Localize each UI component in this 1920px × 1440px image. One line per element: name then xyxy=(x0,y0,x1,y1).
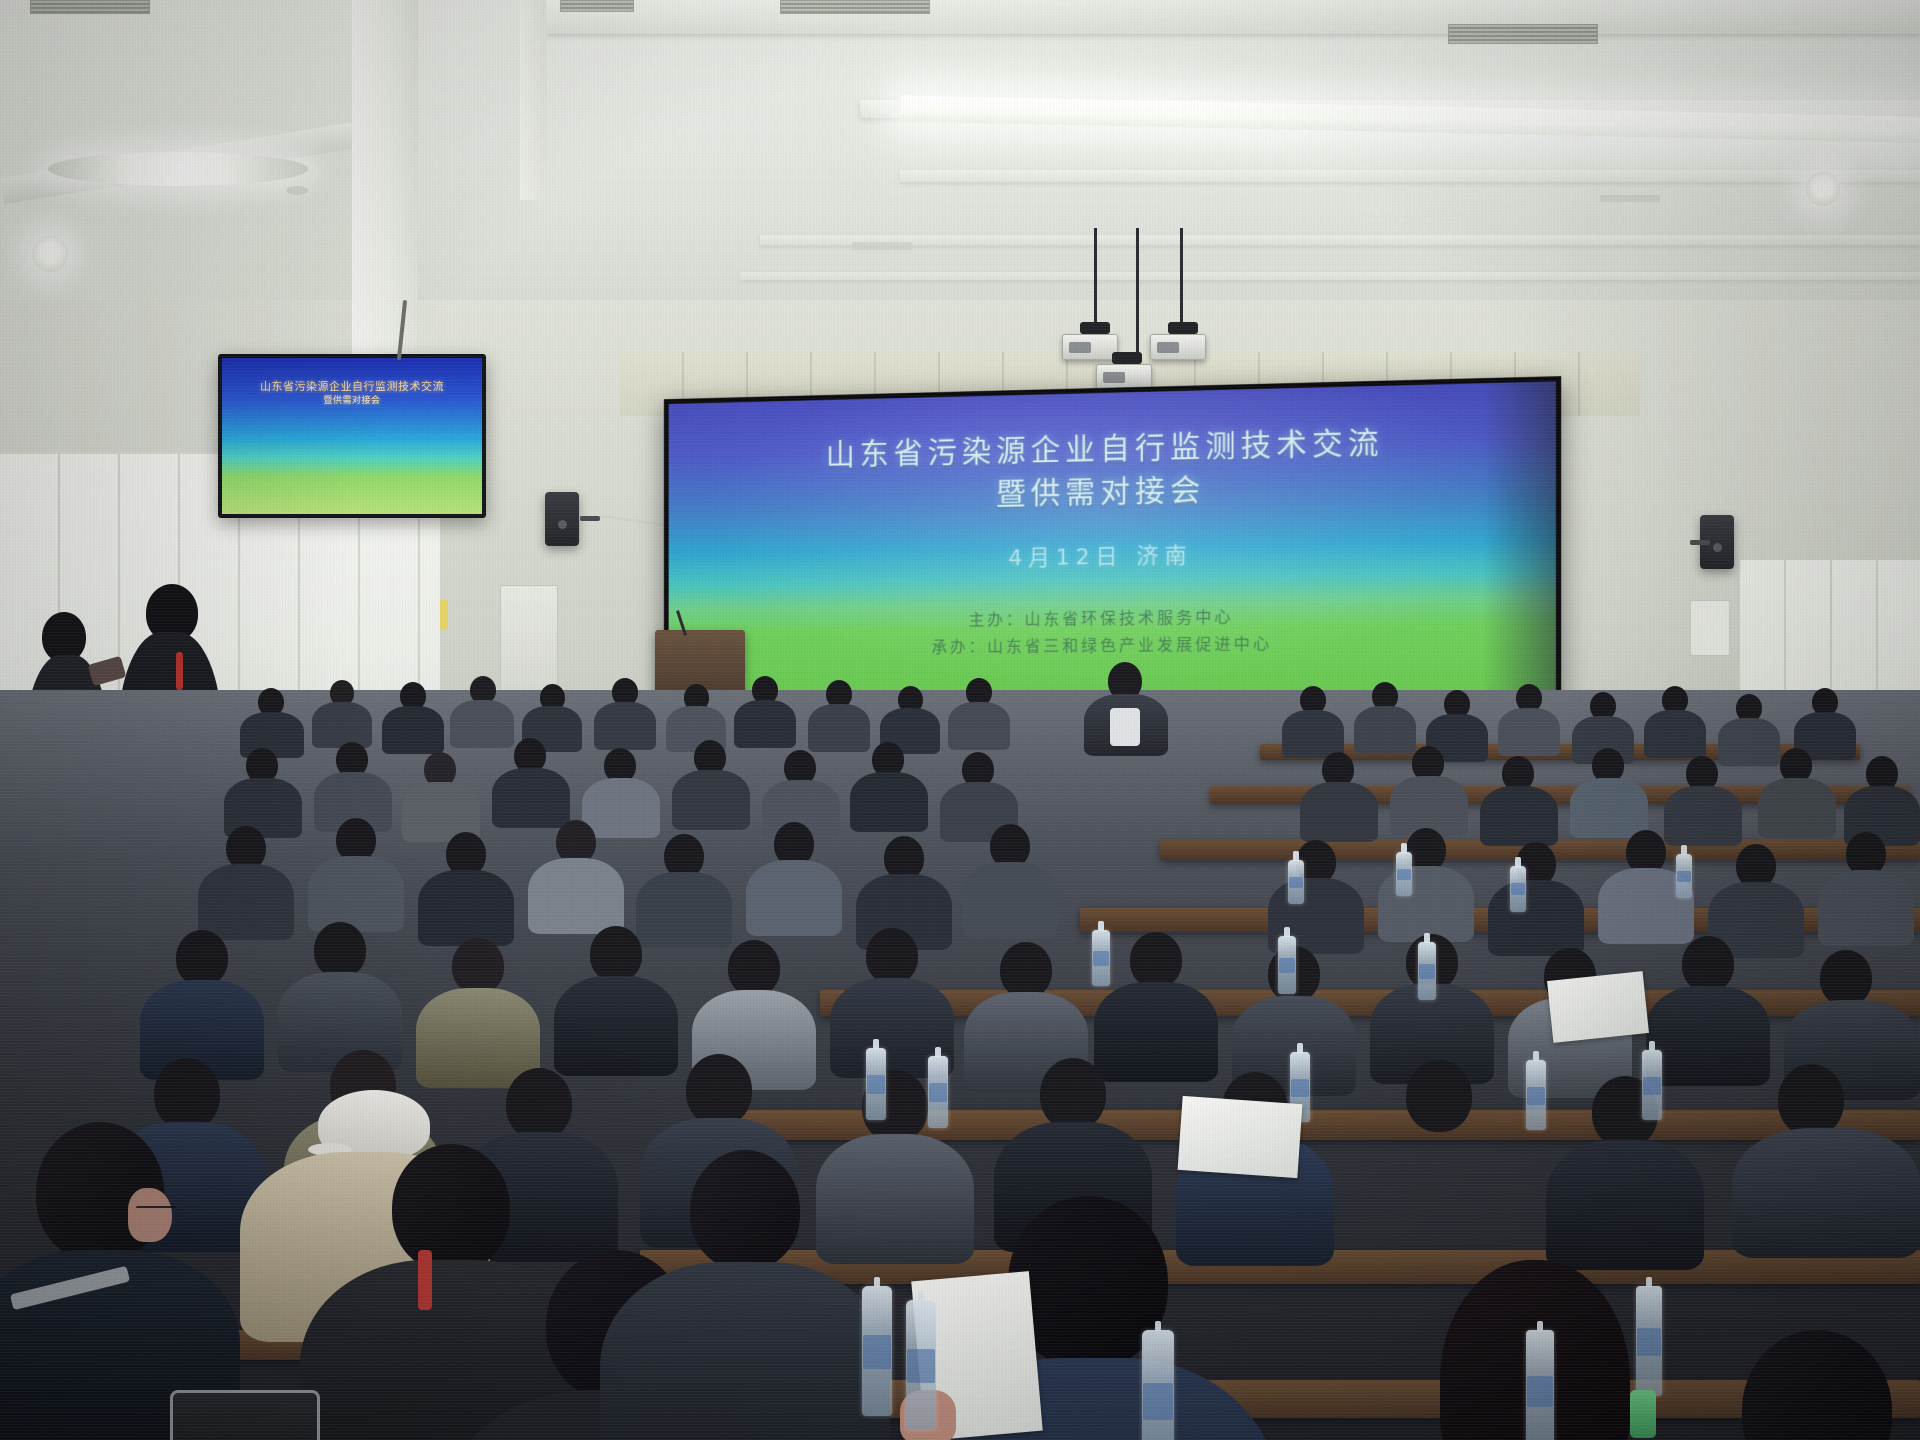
water-bottle xyxy=(906,1300,936,1430)
ceiling-beam-top xyxy=(546,0,1920,34)
water-bottle xyxy=(1418,942,1436,1000)
water-bottle xyxy=(928,1056,948,1128)
speaker-bracket-right xyxy=(1690,540,1710,545)
projector-mount-2 xyxy=(1168,322,1198,334)
water-bottle xyxy=(1092,930,1110,986)
white-cap xyxy=(318,1090,430,1160)
projected-slide: 山东省污染源企业自行监测技术交流 暨供需对接会 4月12日 济南 主办：山东省环… xyxy=(669,381,1556,705)
water-bottle xyxy=(1510,866,1526,912)
projector-mount-1 xyxy=(1080,322,1110,334)
slide-title: 山东省污染源企业自行监测技术交流 暨供需对接会 xyxy=(669,418,1556,521)
slide-date-location: 4月12日 济南 xyxy=(669,532,1556,578)
water-bottle xyxy=(1288,860,1304,904)
head xyxy=(1742,1330,1892,1440)
water-bottle xyxy=(866,1048,886,1120)
slide-organizers: 主办：山东省环保技术服务中心 承办：山东省三和绿色产业发展促进中心 xyxy=(669,599,1556,663)
ceiling-beam-4 xyxy=(760,235,1920,245)
ceiling-fitting-1 xyxy=(286,186,308,195)
ceiling-air-vent-2 xyxy=(780,0,930,14)
ceiling-air-vent-4 xyxy=(560,0,634,12)
ceiling-projector-2 xyxy=(1150,334,1206,360)
water-bottle xyxy=(1142,1330,1174,1440)
water-bottle xyxy=(1396,852,1412,896)
wall-speaker-left xyxy=(545,492,579,546)
lanyard xyxy=(418,1250,432,1310)
wall-monitor-title-line1: 山东省污染源企业自行监测技术交流 xyxy=(222,380,482,395)
ceiling-projector-1 xyxy=(1062,334,1118,360)
water-bottle xyxy=(862,1286,892,1416)
projector-rod-1 xyxy=(1094,228,1097,328)
green-tea-bottle xyxy=(1630,1390,1656,1438)
water-bottle xyxy=(1676,854,1692,898)
projector-mount-3 xyxy=(1112,352,1142,364)
projector-rod-3 xyxy=(1180,228,1183,328)
head xyxy=(690,1150,800,1270)
document-sheet xyxy=(1178,1096,1303,1178)
screen-shadow xyxy=(1483,381,1556,700)
wall-pillar-left-2 xyxy=(520,0,546,200)
wall-control-panel[interactable] xyxy=(1690,600,1730,656)
conference-hall-photo: 山东省污染源企业自行监测技术交流 暨供需对接会 山东省污染源企业自行监测技术交流… xyxy=(0,0,1920,1440)
body xyxy=(600,1262,890,1440)
water-bottle xyxy=(1642,1050,1662,1120)
projection-screen: 山东省污染源企业自行监测技术交流 暨供需对接会 4月12日 济南 主办：山东省环… xyxy=(664,376,1561,710)
presenter-shirt xyxy=(1110,708,1140,746)
ceiling-air-vent-1 xyxy=(30,0,150,14)
audience-area xyxy=(0,690,1920,1440)
document-sheet xyxy=(1547,971,1649,1043)
water-bottle xyxy=(1636,1286,1662,1396)
recessed-downlight-1 xyxy=(48,152,308,186)
eyeglasses xyxy=(136,1206,176,1211)
ceiling-beam-5 xyxy=(740,272,1920,280)
recessed-downlight-3 xyxy=(1806,172,1840,206)
projector-rod-2 xyxy=(1136,228,1139,358)
water-bottle xyxy=(1526,1060,1546,1130)
lanyard xyxy=(176,652,183,690)
ceiling-fitting-6 xyxy=(1600,195,1660,202)
water-bottle xyxy=(1278,936,1296,994)
ceiling-beam-3 xyxy=(900,170,1920,182)
ceiling-air-vent-3 xyxy=(1448,24,1598,44)
wall-monitor-screen: 山东省污染源企业自行监测技术交流 暨供需对接会 xyxy=(222,358,482,514)
wall-mounted-monitor: 山东省污染源企业自行监测技术交流 暨供需对接会 xyxy=(218,354,486,518)
wall-monitor-title: 山东省污染源企业自行监测技术交流 暨供需对接会 xyxy=(222,380,482,407)
water-bottle xyxy=(1526,1330,1554,1440)
ceiling-fitting-3 xyxy=(852,242,912,250)
recessed-downlight-2 xyxy=(32,236,68,272)
face xyxy=(128,1188,172,1242)
speaker-bracket-left xyxy=(580,516,600,521)
head xyxy=(392,1144,510,1272)
chair-back xyxy=(170,1390,320,1440)
wall-monitor-title-line2: 暨供需对接会 xyxy=(222,395,482,407)
